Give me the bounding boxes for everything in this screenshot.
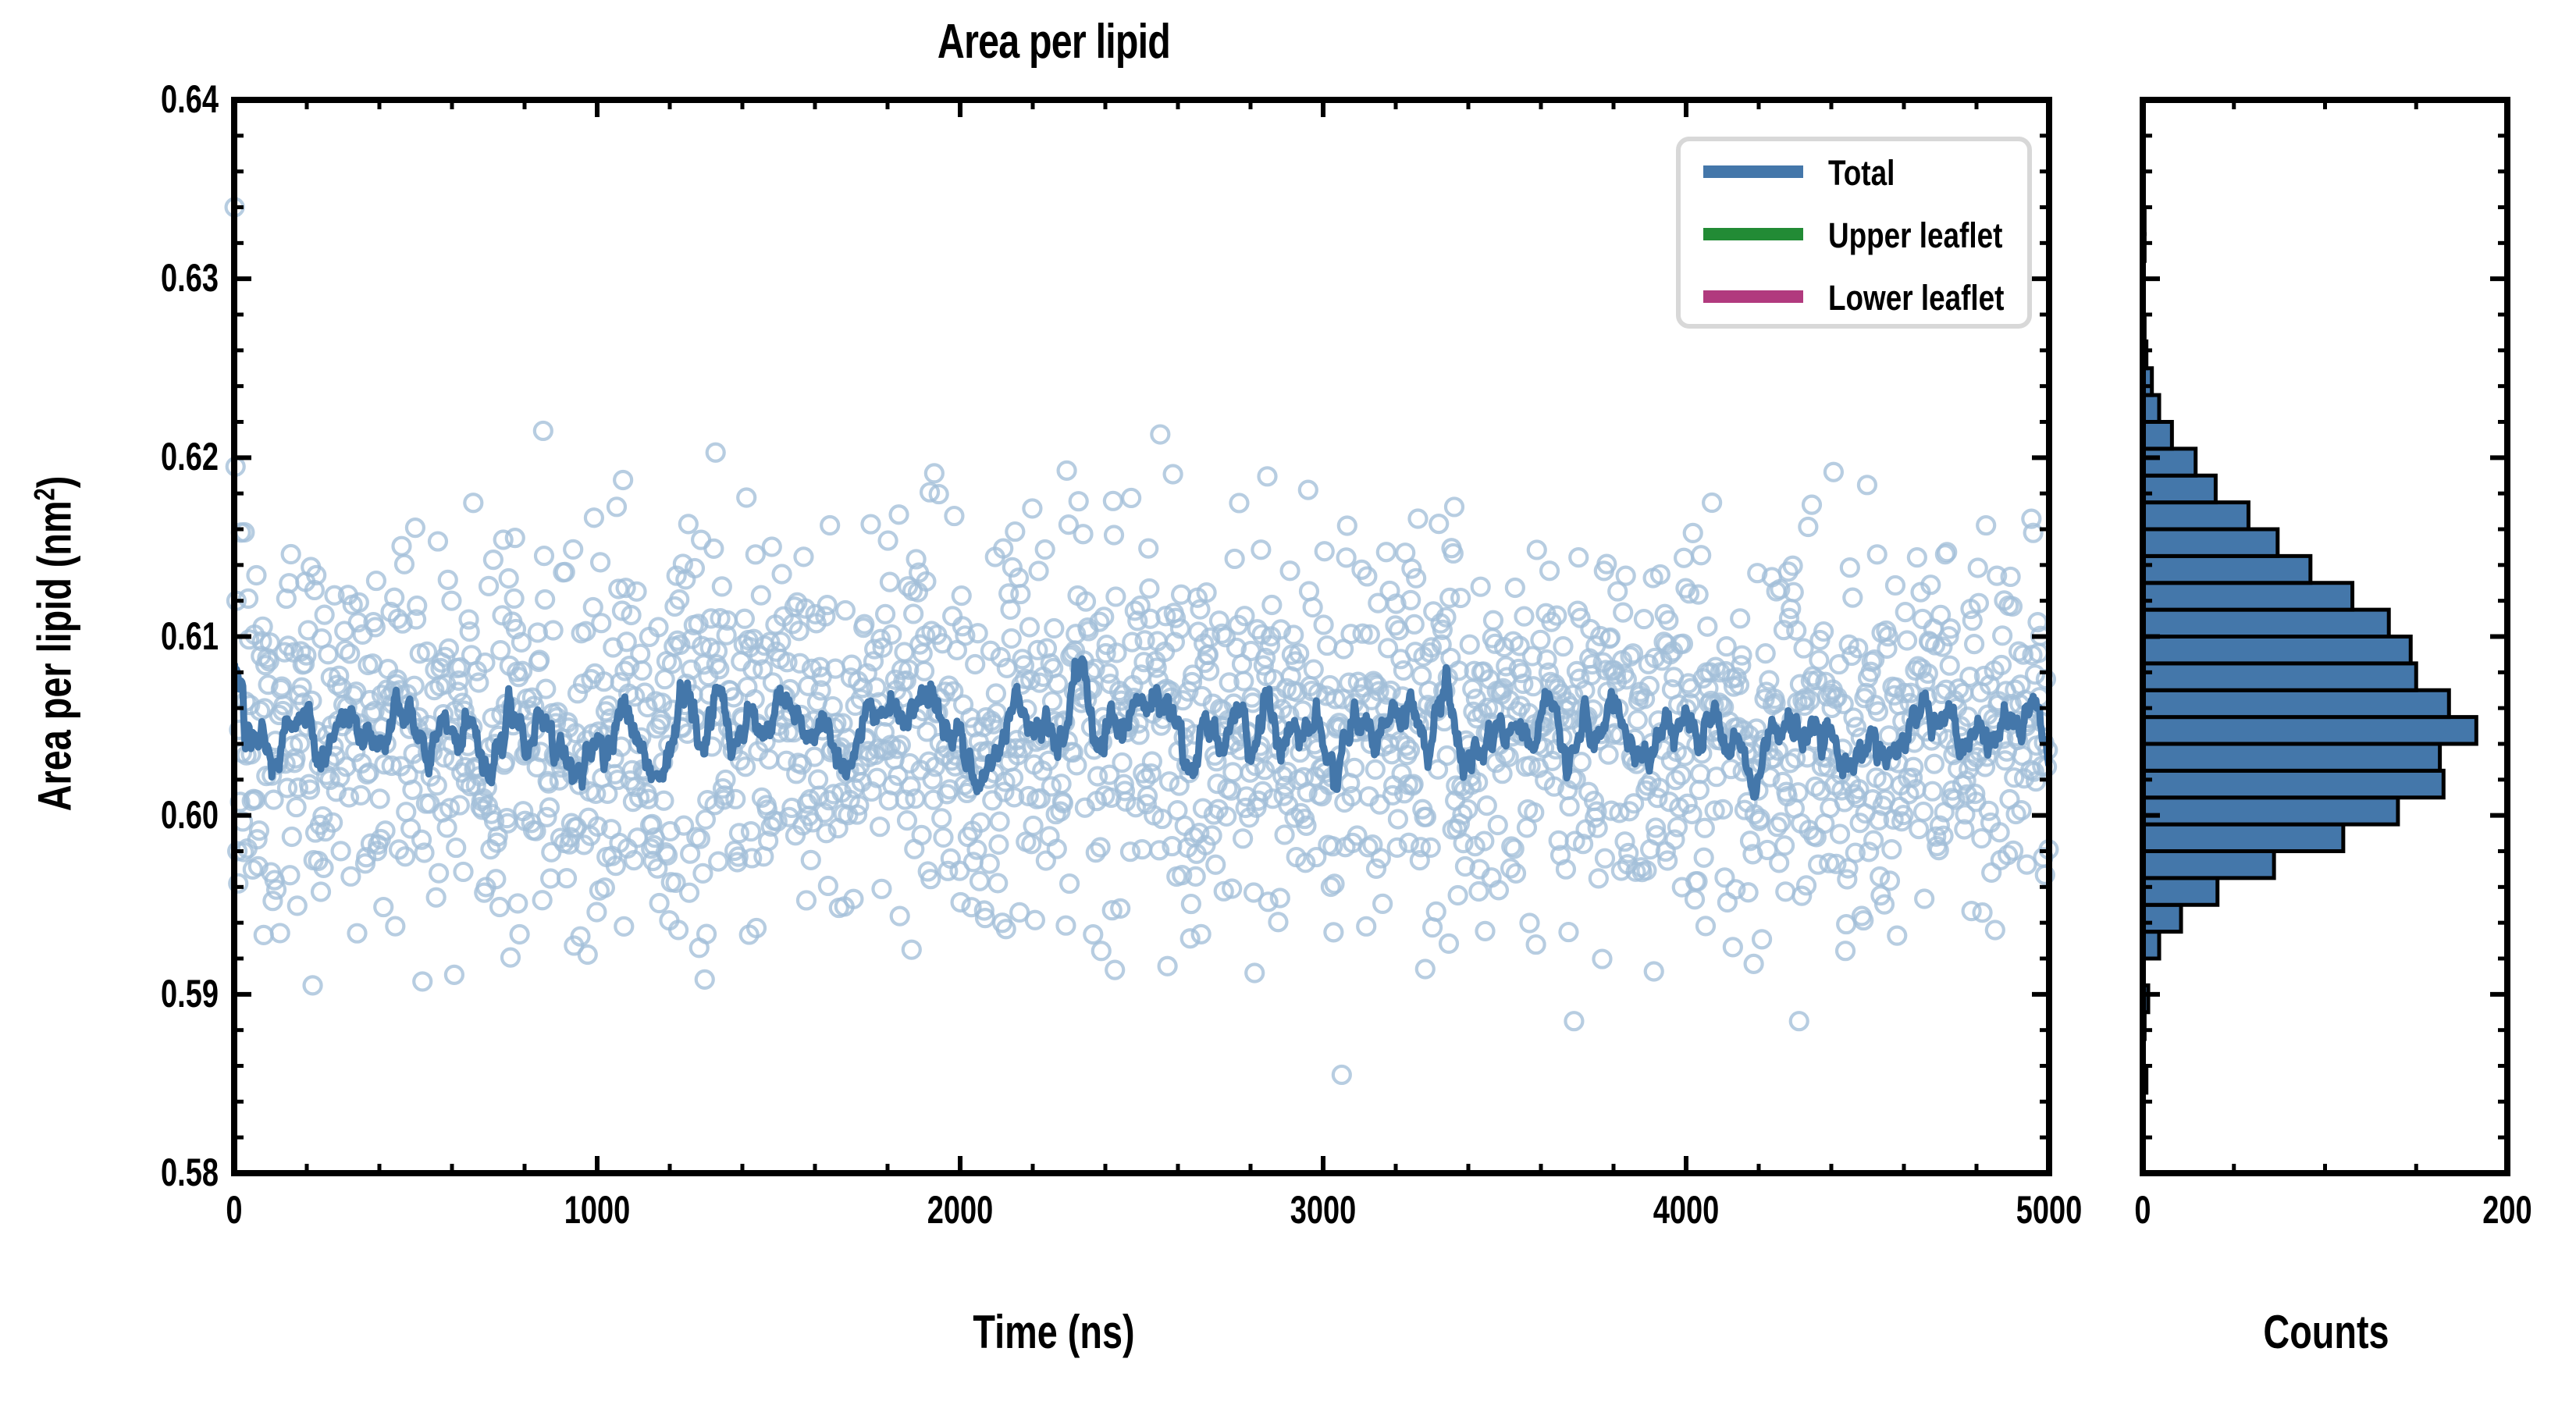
scatter-point [883, 626, 900, 643]
scatter-point [795, 548, 812, 565]
y-tick-label-main: 0.60 [52, 792, 219, 838]
scatter-point [480, 578, 497, 595]
scatter-point [1844, 589, 1861, 606]
scatter-point [1339, 517, 1356, 534]
scatter-point [727, 791, 744, 808]
scatter-point [1075, 525, 1092, 542]
scatter-point [281, 866, 298, 884]
scatter-point [536, 591, 553, 608]
histogram-bar [2143, 824, 2343, 851]
scatter-point [1003, 630, 1020, 647]
scatter-point [1207, 856, 1224, 873]
scatter-point [824, 698, 841, 715]
scatter-point [798, 891, 815, 909]
scatter-point [1964, 612, 1981, 629]
scatter-point [1515, 608, 1532, 625]
scatter-point [933, 809, 950, 827]
figure-root: Area per lipid TotalUpper leafletLower l… [0, 0, 2576, 1405]
histogram-bar [2143, 503, 2248, 529]
scatter-point [1614, 604, 1631, 621]
scatter-point [891, 908, 909, 925]
scatter-point [588, 903, 605, 920]
scatter-point [1477, 923, 1494, 940]
scatter-point [1770, 854, 1788, 871]
y-tick-label-main: 0.61 [52, 614, 219, 659]
scatter-point [1470, 883, 1487, 900]
scatter-point [1772, 814, 1789, 831]
scatter-point [710, 853, 727, 870]
scatter-point [1030, 562, 1048, 579]
scatter-point [1837, 942, 1854, 959]
histogram-bar [2143, 583, 2353, 610]
scatter-point [502, 949, 519, 966]
scatter-point [1304, 599, 1322, 616]
scatter-point [713, 578, 731, 595]
scatter-point [615, 918, 632, 935]
scatter-point [1300, 582, 1318, 599]
scatter-point [898, 812, 916, 829]
histogram-bar [2143, 422, 2172, 449]
scatter-point [1450, 887, 1467, 904]
scatter-point [397, 803, 415, 820]
scatter-point [1409, 510, 1426, 528]
scatter-point [1430, 515, 1447, 532]
histogram-bar [2143, 610, 2389, 636]
scatter-point [1617, 833, 1634, 850]
y-axis-label-superscript: 2 [28, 488, 61, 500]
scatter-point [439, 571, 457, 589]
scatter-point [1191, 601, 1208, 618]
scatter-point [1093, 942, 1110, 959]
scatter-point [304, 976, 322, 994]
scatter-point [981, 855, 998, 873]
scatter-point [491, 898, 508, 916]
scatter-point [1888, 927, 1905, 944]
scatter-point [500, 570, 518, 587]
scatter-point [1151, 426, 1169, 443]
scatter-point [1977, 517, 1994, 534]
scatter-point [1140, 540, 1157, 557]
scatter-point [1269, 913, 1286, 930]
scatter-point [1723, 760, 1740, 777]
scatter-point [506, 590, 523, 607]
scatter-point [1565, 1012, 1582, 1030]
y-tick-label-main: 0.62 [52, 434, 219, 479]
scatter-point [1428, 903, 1445, 920]
scatter-point [802, 852, 820, 869]
scatter-point [1724, 938, 1742, 955]
scatter-point [2013, 802, 2030, 819]
scatter-point [430, 865, 447, 882]
scatter-point [1395, 662, 1412, 679]
scatter-point [1731, 610, 1749, 627]
scatter-point [1095, 608, 1112, 625]
scatter-point [1528, 541, 1546, 558]
scatter-point [342, 868, 359, 885]
histogram-bar [2143, 663, 2416, 690]
scatter-point [429, 533, 447, 550]
scatter-point [1570, 549, 1587, 566]
scatter-point [1825, 464, 1842, 481]
scatter-point [1455, 834, 1472, 852]
scatter-point [1230, 494, 1247, 511]
scatter-point [1025, 817, 1042, 834]
scatter-point [1776, 837, 1793, 854]
scatter-point [681, 884, 698, 902]
x-tick-label-main: 4000 [1597, 1187, 1775, 1232]
scatter-point [880, 532, 897, 550]
scatter-point [1541, 562, 1558, 579]
histogram-bar [2143, 529, 2278, 556]
scatter-point [542, 870, 559, 887]
scatter-point [537, 681, 554, 698]
scatter-point [614, 471, 632, 489]
scatter-point [558, 870, 575, 887]
scatter-point [1883, 841, 1900, 858]
scatter-point [240, 590, 257, 607]
scatter-point [1021, 619, 1038, 636]
scatter-point [971, 873, 988, 890]
scatter-point [368, 572, 385, 589]
scatter-point [821, 517, 838, 534]
scatter-point [1037, 541, 1054, 558]
scatter-point [535, 547, 553, 564]
scatter-point [1489, 816, 1507, 834]
scatter-point [1338, 549, 1355, 566]
scatter-point [461, 623, 479, 640]
scatter-point [966, 656, 984, 673]
scatter-point [1795, 640, 1813, 657]
scatter-point [819, 596, 836, 614]
scatter-point [1006, 523, 1023, 540]
scatter-point [464, 494, 482, 511]
scatter-point [592, 614, 610, 631]
scatter-point [372, 790, 389, 807]
scatter-point [1333, 1066, 1350, 1083]
scatter-point [1045, 620, 1062, 637]
scatter-point [984, 791, 1001, 809]
scatter-point [509, 895, 526, 912]
scatter-point [1887, 577, 1904, 594]
scatter-point [1105, 526, 1123, 543]
scatter-point [934, 829, 952, 846]
scatter-point [1263, 596, 1280, 614]
scatter-point [1478, 797, 1496, 814]
scatter-point [1554, 638, 1571, 655]
scatter-point [1617, 567, 1635, 585]
x-axis-label-main: Time (ns) [232, 1305, 1876, 1359]
histogram-bar [2143, 717, 2476, 744]
scatter-point [881, 574, 898, 591]
scatter-point [1315, 616, 1332, 633]
scatter-point [862, 516, 879, 533]
scatter-point [707, 444, 724, 461]
scatter-point [1406, 616, 1423, 633]
legend-label: Total [1828, 154, 1895, 193]
scatter-point [1182, 930, 1199, 947]
scatter-point [747, 546, 764, 563]
scatter-point [953, 587, 970, 604]
scatter-point [1777, 883, 1794, 900]
scatter-point [1023, 500, 1041, 517]
scatter-point [1140, 580, 1158, 597]
x-tick-label-main: 1000 [508, 1187, 686, 1232]
x-tick-label-main: 3000 [1234, 1187, 1412, 1232]
scatter-point [1803, 496, 1820, 514]
histogram-bar [2143, 905, 2181, 931]
scatter-point [1897, 603, 1914, 621]
scatter-point [1300, 482, 1317, 499]
scatter-point [1590, 870, 1607, 887]
scatter-point [1105, 493, 1122, 510]
scatter-point [1144, 753, 1161, 770]
scatter-point [1316, 542, 1333, 560]
scatter-point [1525, 678, 1542, 695]
scatter-point [333, 842, 350, 859]
scatter-point [352, 787, 369, 804]
scatter-point [349, 925, 366, 942]
scatter-point [696, 971, 713, 988]
scatter-point [1234, 830, 1251, 847]
scatter-point [1910, 820, 1927, 838]
scatter-point [1573, 753, 1590, 770]
scatter-point [944, 607, 961, 624]
scatter-point [873, 880, 890, 898]
scatter-point [288, 799, 305, 816]
scatter-point [396, 556, 413, 573]
scatter-point [1898, 632, 1916, 649]
scatter-point [2019, 856, 2036, 873]
scatter-point [272, 924, 289, 941]
scatter-point [1084, 926, 1101, 943]
scatter-point [1165, 466, 1182, 483]
scatter-point [809, 771, 827, 788]
scatter-point [1745, 955, 1763, 973]
scatter-point [1675, 550, 1692, 567]
scatter-point [2005, 842, 2022, 859]
scatter-point [680, 515, 697, 532]
scatter-point [535, 422, 552, 439]
scatter-point [1133, 841, 1151, 858]
scatter-point [1106, 962, 1123, 979]
scatter-point [1226, 550, 1244, 567]
scatter-point [1374, 895, 1391, 912]
scatter-point [1528, 936, 1545, 953]
scatter-point [1987, 922, 2004, 939]
scatter-point [1485, 612, 1502, 629]
scatter-point [1193, 926, 1210, 943]
scatter-point [255, 927, 272, 944]
histogram-bar [2143, 852, 2274, 878]
scatter-point [1461, 636, 1478, 653]
scatter-point [1224, 763, 1241, 781]
scatter-point [990, 836, 1007, 853]
legend-label: Upper leaflet [1828, 216, 2003, 255]
scatter-point [511, 926, 528, 943]
scatter-point [470, 674, 487, 691]
scatter-point [564, 541, 582, 558]
scatter-point [1646, 962, 1663, 980]
scatter-point [871, 818, 888, 835]
scatter-point [455, 863, 472, 880]
scatter-point [1926, 756, 1943, 773]
scatter-point [1276, 826, 1293, 843]
scatter-point [1859, 476, 1876, 493]
scatter-point [447, 839, 464, 856]
scatter-point [1417, 961, 1434, 978]
scatter-point [1368, 860, 1385, 877]
scatter-point [1282, 562, 1299, 579]
scatter-point [247, 567, 265, 584]
scatter-point [319, 646, 336, 663]
scatter-point [1183, 895, 1200, 912]
scatter-point [1378, 543, 1395, 560]
scatter-point [705, 540, 722, 557]
scatter-point [1446, 498, 1463, 515]
scatter-point [891, 506, 908, 523]
x-tick-label-main: 0 [145, 1187, 323, 1232]
legend-label: Lower leaflet [1828, 279, 2005, 318]
histogram-bar [2143, 556, 2311, 582]
scatter-point [1521, 914, 1538, 931]
scatter-point [1507, 579, 1524, 596]
scatter-point [1159, 958, 1176, 975]
scatter-point [534, 891, 551, 909]
scatter-point [991, 813, 1009, 831]
scatter-point [698, 926, 715, 943]
scatter-point [1916, 891, 1933, 908]
scatter-point [1620, 845, 1637, 862]
scatter-point [694, 865, 711, 882]
histogram-bar [2143, 744, 2440, 770]
scatter-point [1791, 1012, 1808, 1030]
scatter-point [283, 546, 300, 563]
scatter-point [1600, 746, 1617, 763]
scatter-point [1593, 951, 1610, 968]
scatter-point [913, 827, 930, 844]
scatter-point [1325, 923, 1342, 941]
scatter-point [1070, 493, 1087, 510]
scatter-point [1107, 588, 1124, 605]
scatter-point [1696, 820, 1713, 837]
histogram-bar [2143, 475, 2215, 502]
scatter-point [1318, 637, 1336, 654]
scatter-point [903, 941, 920, 959]
histogram-bar [2143, 770, 2443, 797]
scatter-point [579, 946, 596, 963]
scatter-point [628, 583, 646, 600]
scatter-point [651, 895, 668, 912]
histogram-bars [2143, 208, 2476, 1093]
legend: TotalUpper leafletLower leaflet [1678, 139, 2030, 326]
scatter-point [592, 553, 609, 571]
scatter-point [1561, 798, 1578, 815]
scatter-point [1053, 775, 1070, 792]
scatter-point [1941, 657, 1959, 674]
scatter-point [1699, 618, 1716, 635]
scatter-point [1685, 525, 1702, 542]
scatter-point [341, 645, 358, 662]
scatter-point [375, 898, 392, 916]
scatter-point [428, 889, 445, 906]
scatter-point [1123, 489, 1140, 507]
scatter-point [1305, 661, 1322, 678]
scatter-point [1994, 627, 2011, 644]
scatter-point [738, 489, 755, 507]
scatter-point [1966, 635, 1983, 653]
scatter-point [1439, 747, 1456, 764]
scatter-point [945, 507, 962, 525]
scatter-point [289, 897, 306, 914]
scatter-point [763, 539, 781, 556]
scatter-point [596, 879, 614, 896]
scatter-point [1061, 875, 1078, 892]
scatter-point [989, 874, 1006, 891]
scatter-point [283, 828, 301, 845]
scatter-point [1798, 877, 1815, 894]
scatter-point [1260, 893, 1277, 910]
x-tick-label-main: 2000 [871, 1187, 1049, 1232]
scatter-point [1596, 850, 1614, 867]
scatter-point [1252, 541, 1269, 558]
scatter-point [439, 819, 456, 836]
scatter-point [1697, 917, 1714, 934]
scatter-point [1790, 784, 1807, 801]
scatter-point [1372, 849, 1389, 866]
scatter-point [1969, 559, 1987, 576]
scatter-point [1793, 887, 1810, 905]
scatter-point [1087, 844, 1105, 861]
scatter-point [451, 797, 468, 814]
scatter-point [1841, 559, 1859, 576]
scatter-point [1259, 468, 1276, 485]
scatter-points-total [226, 199, 2058, 1083]
scatter-point [742, 823, 760, 840]
scatter-point [507, 529, 524, 546]
scatter-point [2026, 666, 2044, 683]
x-tick-label-histogram: 200 [2418, 1187, 2576, 1232]
scatter-point [1092, 838, 1109, 855]
scatter-point [1974, 904, 1991, 921]
histogram-bar [2143, 449, 2196, 475]
scatter-point [1760, 672, 1777, 689]
scatter-point [736, 610, 753, 628]
scatter-point [1753, 930, 1770, 948]
scatter-point [1915, 803, 1932, 820]
scatter-point [312, 884, 329, 901]
scatter-point [1560, 923, 1577, 941]
scatter-point [1869, 546, 1886, 563]
scatter-point [446, 966, 463, 983]
scatter-point [1057, 917, 1074, 934]
scatter-point [608, 498, 625, 515]
scatter-point [1914, 610, 1931, 628]
scatter-point [1589, 820, 1606, 837]
scatter-point [632, 646, 649, 663]
scatter-point [485, 551, 502, 568]
scatter-point [1172, 586, 1190, 603]
scatter-point [1831, 826, 1848, 843]
scatter-point [1635, 610, 1653, 628]
scatter-point [414, 973, 431, 990]
scatter-point [820, 877, 837, 895]
scatter-point [1703, 494, 1720, 511]
scatter-point [393, 538, 410, 555]
scatter-point [1272, 889, 1289, 906]
y-tick-label-main: 0.63 [52, 255, 219, 301]
histogram-bar [2143, 798, 2398, 824]
scatter-point [585, 509, 603, 526]
